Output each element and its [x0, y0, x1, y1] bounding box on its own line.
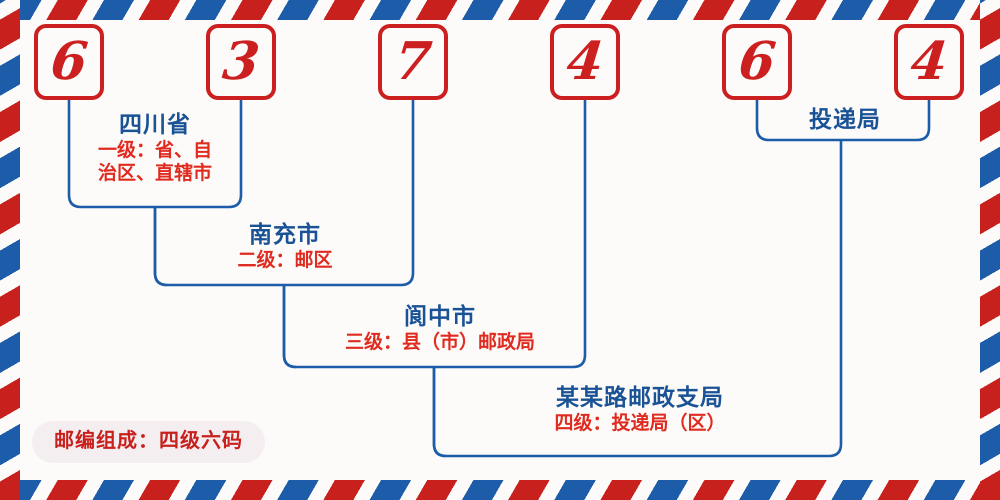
postcode-composition-text: 邮编组成：四级六码: [54, 428, 243, 452]
delivery-office-title: 投递局: [775, 107, 915, 133]
digit-card-2[interactable]: 3: [206, 24, 276, 100]
digit-value-3: 7: [392, 36, 434, 88]
level-4-title: 某某路邮政支局: [510, 385, 770, 411]
digit-value-5: 6: [736, 36, 778, 88]
digit-card-6[interactable]: 4: [894, 24, 964, 100]
level-1-subtitle-line-2: 治区、直辖市: [70, 163, 240, 186]
level-2-label: 南充市 二级：邮区: [195, 222, 375, 273]
stem-level-3: [434, 367, 446, 456]
digit-value-1: 6: [48, 36, 90, 88]
level-1-subtitle: 一级：省、自 治区、直辖市: [70, 140, 240, 186]
postcode-composition-badge: 邮编组成：四级六码: [32, 421, 265, 463]
postcode-infographic: 6 3 7 4 6 4 四川省 一级：省、自 治区、直辖市 南充市 二级：邮区 …: [0, 0, 1000, 500]
level-1-subtitle-line-1: 一级：省、自: [70, 140, 240, 163]
digit-card-5[interactable]: 6: [722, 24, 792, 100]
stem-level-2: [284, 285, 296, 367]
digit-value-4: 4: [564, 36, 606, 88]
level-2-subtitle-line-1: 二级：邮区: [195, 250, 375, 273]
level-3-title: 阆中市: [320, 304, 560, 330]
level-1-title: 四川省: [70, 112, 240, 138]
level-4-subtitle-line-1: 四级：投递局（区）: [510, 413, 770, 436]
digit-card-3[interactable]: 7: [378, 24, 448, 100]
level-4-label: 某某路邮政支局 四级：投递局（区）: [510, 385, 770, 436]
delivery-office-label: 投递局: [775, 107, 915, 133]
digit-card-4[interactable]: 4: [550, 24, 620, 100]
level-1-label: 四川省 一级：省、自 治区、直辖市: [70, 112, 240, 185]
digit-value-6: 4: [908, 36, 950, 88]
level-3-subtitle-line-1: 三级：县（市）邮政局: [320, 332, 560, 355]
level-3-subtitle: 三级：县（市）邮政局: [320, 332, 560, 355]
stem-level-1: [155, 207, 167, 285]
level-2-subtitle: 二级：邮区: [195, 250, 375, 273]
level-3-label: 阆中市 三级：县（市）邮政局: [320, 304, 560, 355]
digit-card-1[interactable]: 6: [34, 24, 104, 100]
digit-value-2: 3: [220, 36, 262, 88]
level-2-title: 南充市: [195, 222, 375, 248]
level-4-subtitle: 四级：投递局（区）: [510, 413, 770, 436]
